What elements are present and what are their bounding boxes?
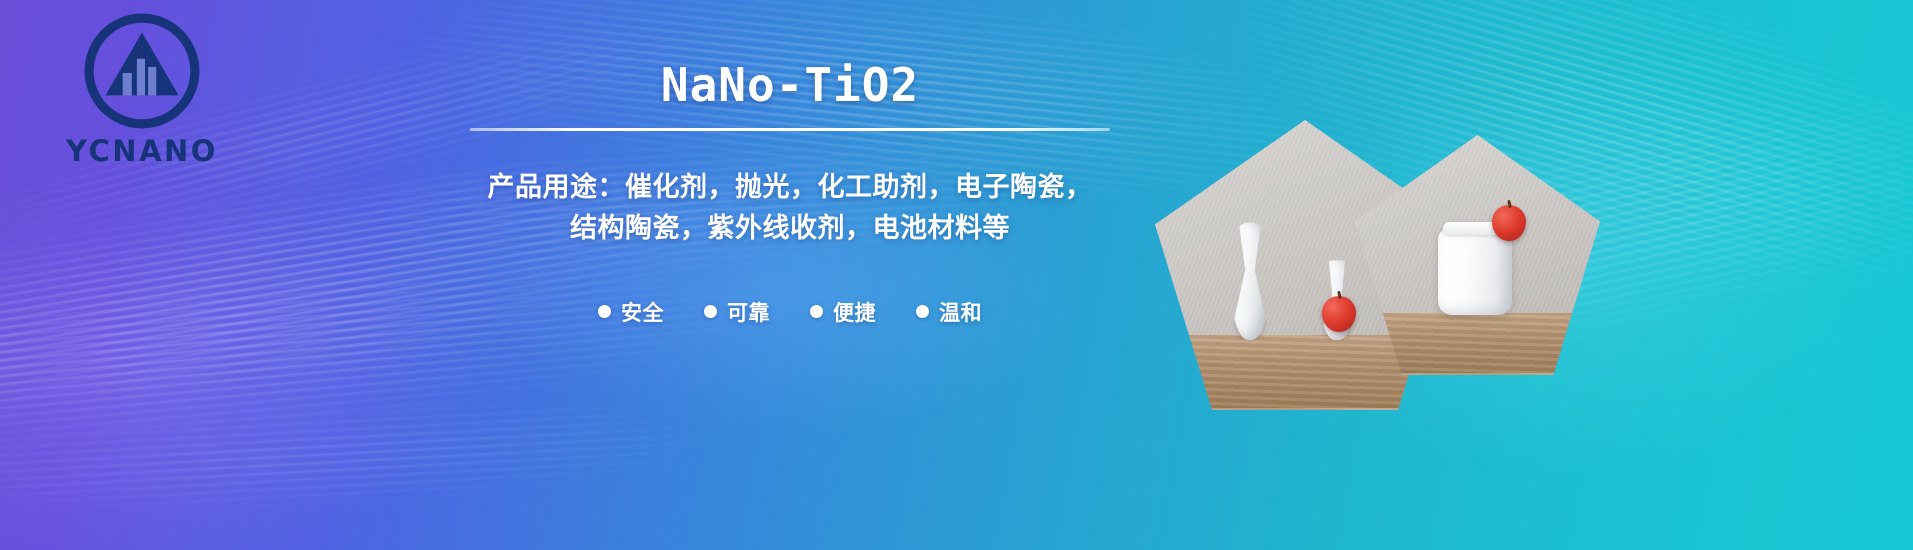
dot-icon (598, 305, 611, 318)
page-title: NaNo-TiO2 (470, 60, 1110, 112)
powder-jar (1438, 229, 1512, 315)
feature-item-reliable: 可靠 (704, 297, 770, 327)
brand-wordmark: YCNANO (42, 134, 242, 168)
feature-item-safe: 安全 (598, 297, 664, 327)
wave-stripe-decoration (0, 372, 803, 539)
brand-logo: YCNANO (42, 10, 242, 168)
feature-label: 可靠 (727, 297, 770, 327)
tall-white-vase (1230, 222, 1270, 340)
title-divider (470, 128, 1110, 131)
jar-body (1438, 229, 1512, 315)
dot-icon (704, 305, 717, 318)
feature-item-convenient: 便捷 (810, 297, 876, 327)
product-usage-text: 产品用途：催化剂，抛光，化工助剂，电子陶瓷， 结构陶瓷，紫外线收剂，电池材料等 (470, 167, 1110, 249)
usage-line: 结构陶瓷，紫外线收剂，电池材料等 (470, 208, 1110, 249)
feature-label: 安全 (621, 297, 664, 327)
light-bloom-decoration (0, 180, 480, 550)
feature-label: 温和 (939, 297, 982, 327)
feature-label: 便捷 (833, 297, 876, 327)
dot-icon (810, 305, 823, 318)
white-powder-jar-photo (1355, 135, 1600, 375)
dot-icon (916, 305, 929, 318)
feature-list: 安全 可靠 便捷 温和 (470, 297, 1110, 327)
feature-item-mild: 温和 (916, 297, 982, 327)
red-apple-prop (1492, 205, 1526, 241)
usage-line: 产品用途：催化剂，抛光，化工助剂，电子陶瓷， (470, 167, 1110, 208)
product-banner: YCNANO NaNo-TiO2 产品用途：催化剂，抛光，化工助剂，电子陶瓷， … (0, 0, 1913, 550)
banner-content: NaNo-TiO2 产品用途：催化剂，抛光，化工助剂，电子陶瓷， 结构陶瓷，紫外… (470, 60, 1110, 327)
ycnano-circular-mountain-logo-icon (81, 10, 203, 132)
red-apple-prop (1322, 296, 1356, 332)
